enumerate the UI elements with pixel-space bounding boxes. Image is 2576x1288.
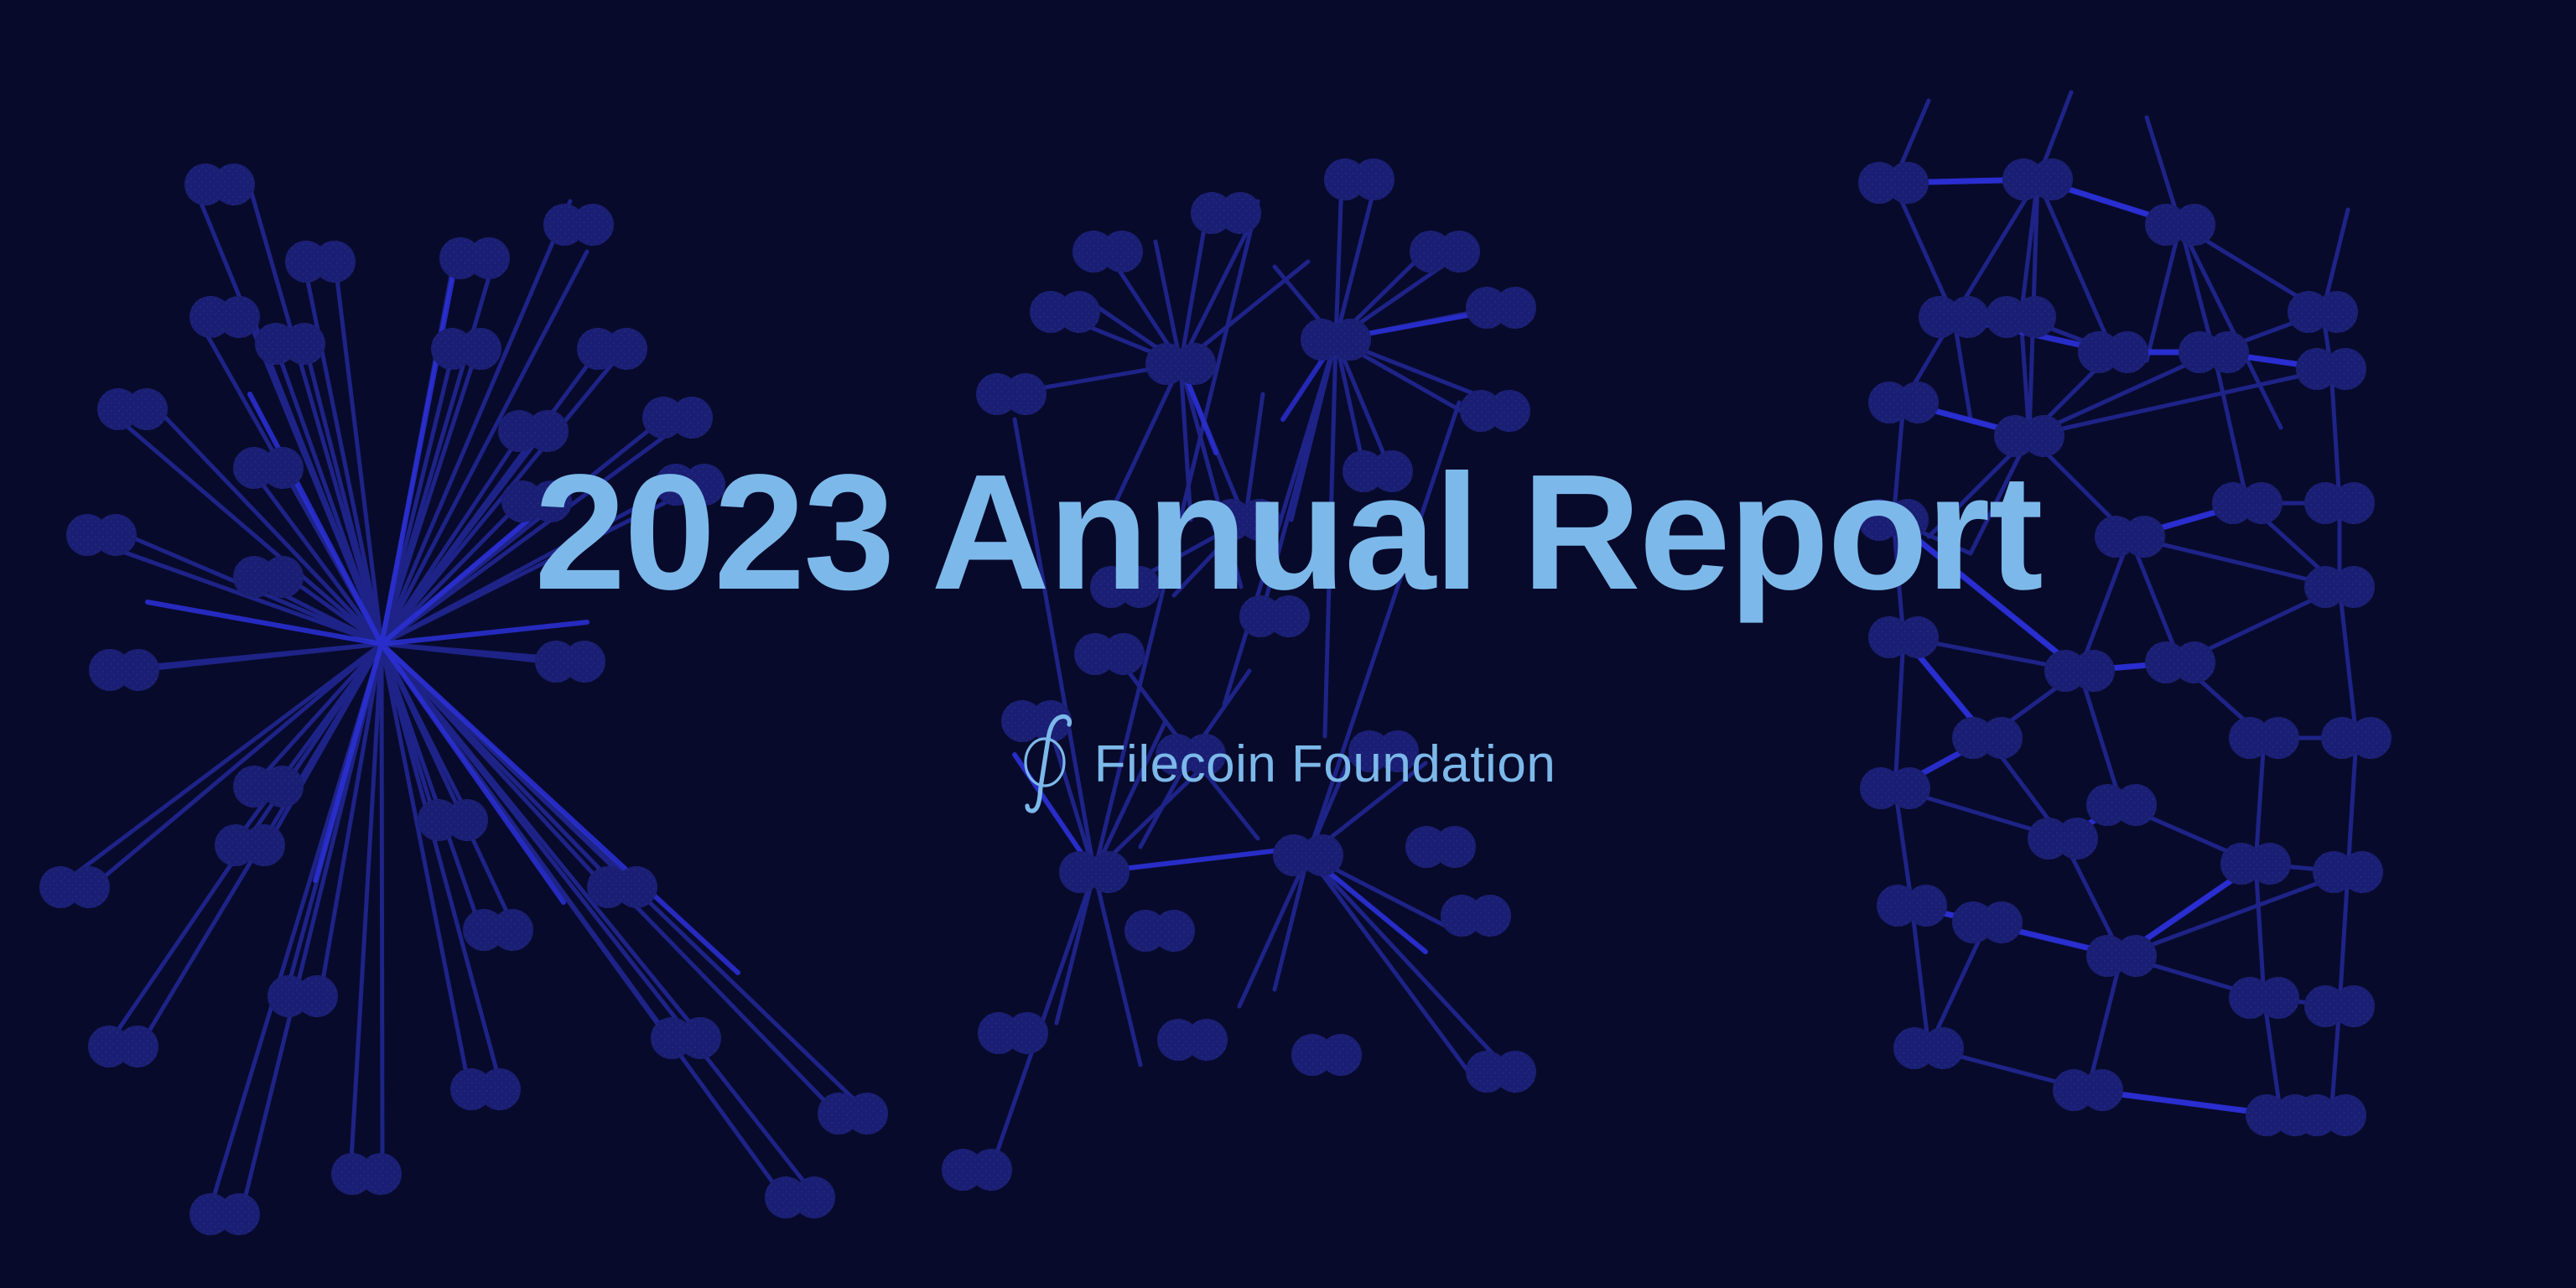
cover-content: 2023 Annual Report Filecoin Foundation (0, 0, 2576, 1288)
brand-lockup: Filecoin Foundation (1021, 714, 1556, 814)
brand-name: Filecoin Foundation (1094, 735, 1556, 794)
filecoin-integral-logo-icon (1021, 714, 1076, 814)
annual-report-cover: 2023 Annual Report Filecoin Foundation (0, 0, 2576, 1288)
page-title: 2023 Annual Report (534, 450, 2041, 615)
